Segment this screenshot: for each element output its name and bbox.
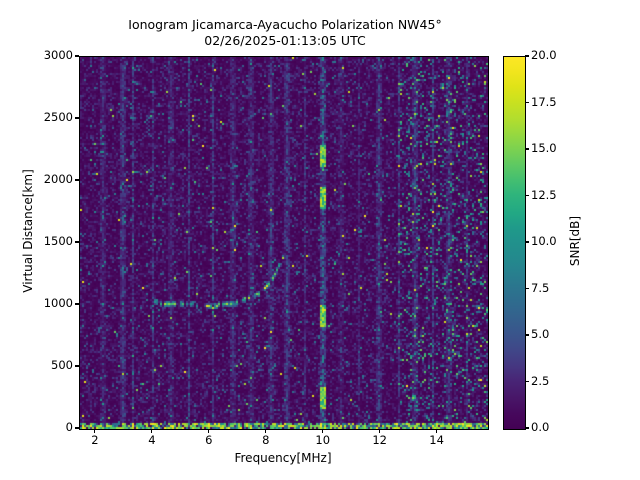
- y-tick-mark: [75, 179, 79, 180]
- ionogram-heatmap: [80, 57, 488, 429]
- colorbar-tick-mark: [525, 334, 529, 335]
- y-axis-label: Virtual Distance[km]: [21, 141, 35, 321]
- colorbar-tick-mark: [525, 241, 529, 242]
- x-tick-label: 10: [315, 433, 330, 447]
- colorbar-tick-label: 10.0: [531, 234, 557, 248]
- x-tick-label: 8: [262, 433, 269, 447]
- x-tick-label: 2: [91, 433, 98, 447]
- y-tick-label: 500: [13, 358, 73, 372]
- y-tick-mark: [75, 303, 79, 304]
- colorbar-tick-label: 5.0: [531, 327, 549, 341]
- figure-canvas: Ionogram Jicamarca-Ayacucho Polarization…: [0, 0, 640, 480]
- y-tick-mark: [75, 427, 79, 428]
- x-tick-label: 12: [372, 433, 387, 447]
- colorbar-tick-label: 17.5: [531, 95, 557, 109]
- colorbar-tick-mark: [525, 195, 529, 196]
- colorbar[interactable]: [503, 56, 526, 430]
- colorbar-tick-label: 2.5: [531, 374, 549, 388]
- colorbar-tick-mark: [525, 381, 529, 382]
- y-tick-mark: [75, 241, 79, 242]
- y-tick-mark: [75, 55, 79, 56]
- y-tick-label: 3000: [13, 48, 73, 62]
- x-tick-label: 14: [429, 433, 444, 447]
- x-axis-label: Frequency[MHz]: [79, 451, 487, 465]
- colorbar-tick-label: 20.0: [531, 48, 557, 62]
- colorbar-tick-mark: [525, 55, 529, 56]
- x-tick-label: 4: [148, 433, 155, 447]
- colorbar-tick-label: 15.0: [531, 141, 557, 155]
- colorbar-tick-mark: [525, 427, 529, 428]
- y-tick-label: 2500: [13, 110, 73, 124]
- ionogram-plot-area[interactable]: [79, 56, 489, 430]
- colorbar-label-wrap: SNR[dB]: [573, 56, 574, 428]
- colorbar-tick-mark: [525, 148, 529, 149]
- colorbar-tick-label: 0.0: [531, 420, 549, 434]
- x-tick-label: 6: [205, 433, 212, 447]
- colorbar-label: SNR[dB]: [568, 151, 582, 331]
- colorbar-tick-label: 7.5: [531, 281, 549, 295]
- chart-title: Ionogram Jicamarca-Ayacucho Polarization…: [0, 17, 570, 49]
- y-tick-mark: [75, 117, 79, 118]
- y-tick-mark: [75, 365, 79, 366]
- colorbar-tick-label: 12.5: [531, 188, 557, 202]
- colorbar-tick-mark: [525, 288, 529, 289]
- y-tick-label: 0: [13, 420, 73, 434]
- y-axis-label-wrap: Virtual Distance[km]: [0, 56, 1, 428]
- colorbar-tick-mark: [525, 102, 529, 103]
